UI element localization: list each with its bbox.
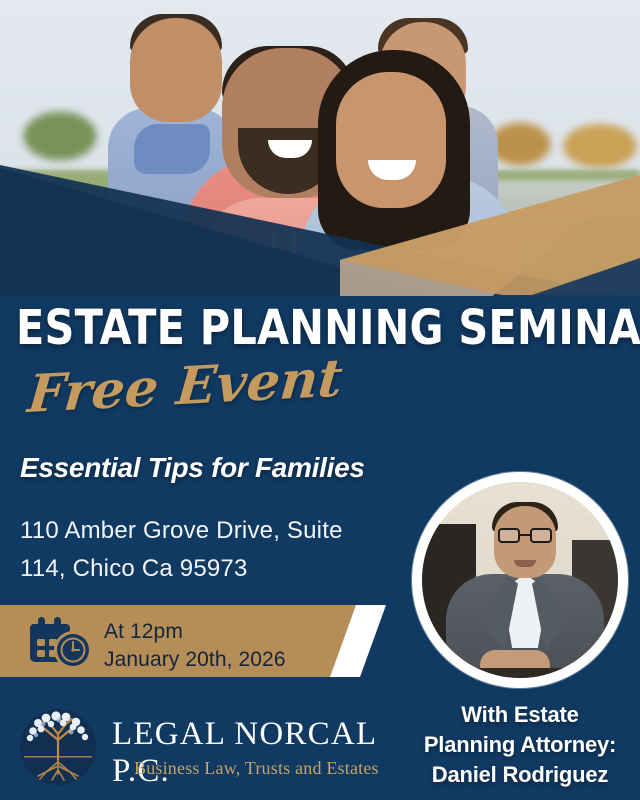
mother-head	[336, 72, 446, 208]
attorney-caption: With Estate Planning Attorney: Daniel Ro…	[400, 700, 640, 790]
brand-logo: LEGAL NORCAL P.C. Business Law, Trusts a…	[16, 706, 388, 788]
attorney-portrait	[412, 472, 628, 688]
eyeglasses-icon	[498, 528, 552, 543]
address-line-1: 110 Amber Grove Drive, Suite	[20, 517, 343, 544]
calendar-clock-icon	[28, 616, 92, 672]
portrait-desk	[422, 668, 618, 678]
event-time: At 12pm	[104, 618, 286, 646]
page-title: ESTATE PLANNING SEMINAR	[16, 300, 602, 356]
event-date: January 20th, 2026	[104, 646, 286, 674]
attorney-headshot	[422, 482, 618, 678]
attorney-caption-line-2: Planning Attorney:	[400, 730, 640, 760]
tree-of-life-icon	[16, 708, 100, 786]
child-left-toy	[134, 124, 210, 174]
poster: ESTATE PLANNING SEMINAR Free Event Essen…	[0, 0, 640, 800]
attorney-smile	[514, 560, 536, 567]
date-time-text: At 12pm January 20th, 2026	[104, 618, 286, 674]
venue-address: 110 Amber Grove Drive, Suite 114, Chico …	[20, 512, 400, 588]
attorney-caption-line-1: With Estate	[400, 700, 640, 730]
child-left-head	[130, 18, 222, 122]
attorney-name: Daniel Rodriguez	[400, 760, 640, 790]
subheadline: Essential Tips for Families	[20, 452, 365, 484]
logo-tagline: Business Law, Trusts and Estates	[134, 758, 379, 779]
address-line-2: 114, Chico Ca 95973	[20, 555, 248, 582]
